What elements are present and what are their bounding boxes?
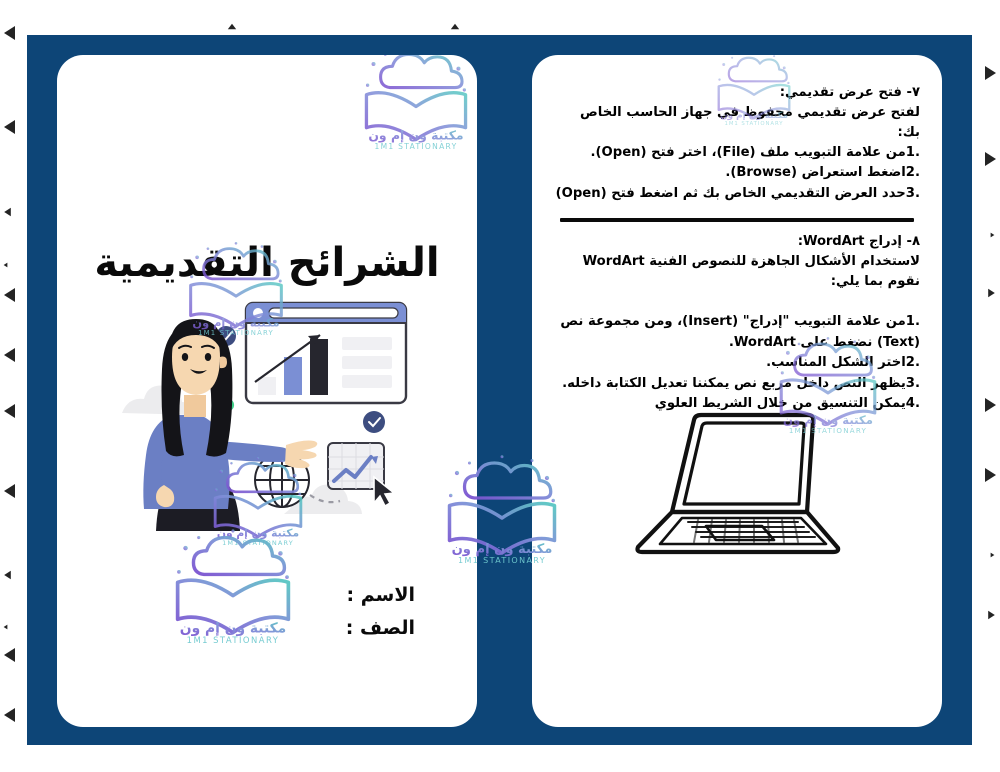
section-insert-wordart: ٨- إدراج WordArt: لاستخدام الأشكال الجاه… — [554, 232, 920, 414]
scan-mark — [4, 404, 15, 418]
cover-page-body: الشرائح التقديمية — [57, 55, 477, 727]
field-class-label: الصف : — [346, 612, 415, 645]
page-border-frame: ٧- فتح عرض تقديمي: لفتح عرض تقديمي محفوظ… — [27, 35, 972, 745]
section-intro: لفتح عرض تقديمي محفوظ في جهاز الحاسب الخ… — [554, 103, 920, 143]
scan-mark — [451, 24, 459, 29]
student-info-fields: الاسم : الصف : — [346, 579, 415, 646]
section-open-presentation: ٧- فتح عرض تقديمي: لفتح عرض تقديمي محفوظ… — [554, 83, 920, 204]
scan-mark — [4, 120, 15, 134]
step-item: حدد العرض التقديمي الخاص بك ثم اضغط فتح … — [554, 184, 920, 204]
scan-mark — [985, 398, 996, 412]
scan-mark — [4, 484, 15, 498]
step-item: اختر الشكل المناسب. — [554, 353, 920, 373]
scan-mark — [4, 26, 15, 40]
field-name-label: الاسم : — [346, 579, 415, 612]
scan-mark — [991, 233, 995, 238]
scan-mark — [985, 468, 996, 482]
section-heading: ٧- فتح عرض تقديمي: — [554, 83, 920, 103]
step-item: يظهر النص داخل مربع نص يمكننا تعديل الكت… — [554, 374, 920, 394]
presentation-illustration — [122, 295, 412, 549]
cover-page-card: الشرائح التقديمية — [57, 55, 477, 727]
section-divider — [560, 218, 914, 222]
scanned-worksheet-page: ٧- فتح عرض تقديمي: لفتح عرض تقديمي محفوظ… — [0, 0, 1000, 772]
scan-mark — [985, 152, 996, 166]
scan-mark — [4, 648, 15, 662]
step-item: اضغط استعراض (Browse). — [554, 163, 920, 183]
page-title: الشرائح التقديمية — [57, 240, 477, 286]
watermark-logo — [357, 55, 475, 149]
scan-mark — [4, 263, 8, 268]
scan-mark — [4, 625, 8, 630]
step-item: من علامة التبويب "إدراج" (Insert)، ومن م… — [554, 312, 920, 353]
steps-list: من علامة التبويب ملف (File)، اختر فتح (O… — [554, 143, 920, 204]
scan-mark — [228, 24, 236, 29]
laptop-illustration — [532, 400, 942, 565]
scan-mark — [4, 348, 15, 362]
scan-mark — [988, 611, 995, 619]
browser-window — [246, 303, 406, 403]
content-page-body: ٧- فتح عرض تقديمي: لفتح عرض تقديمي محفوظ… — [532, 55, 942, 727]
scan-mark — [4, 571, 11, 579]
step-item: من علامة التبويب ملف (File)، اختر فتح (O… — [554, 143, 920, 163]
scan-mark — [4, 708, 15, 722]
section-heading: ٨- إدراج WordArt: — [554, 232, 920, 252]
check-badge — [363, 411, 385, 433]
scan-mark — [4, 288, 15, 302]
scan-mark — [991, 553, 995, 558]
section-intro: لاستخدام الأشكال الجاهزة للنصوص الفنية W… — [554, 252, 920, 292]
scan-mark — [985, 66, 996, 80]
scan-mark — [4, 208, 11, 216]
content-page-card: ٧- فتح عرض تقديمي: لفتح عرض تقديمي محفوظ… — [532, 55, 942, 727]
scan-mark — [988, 289, 995, 297]
